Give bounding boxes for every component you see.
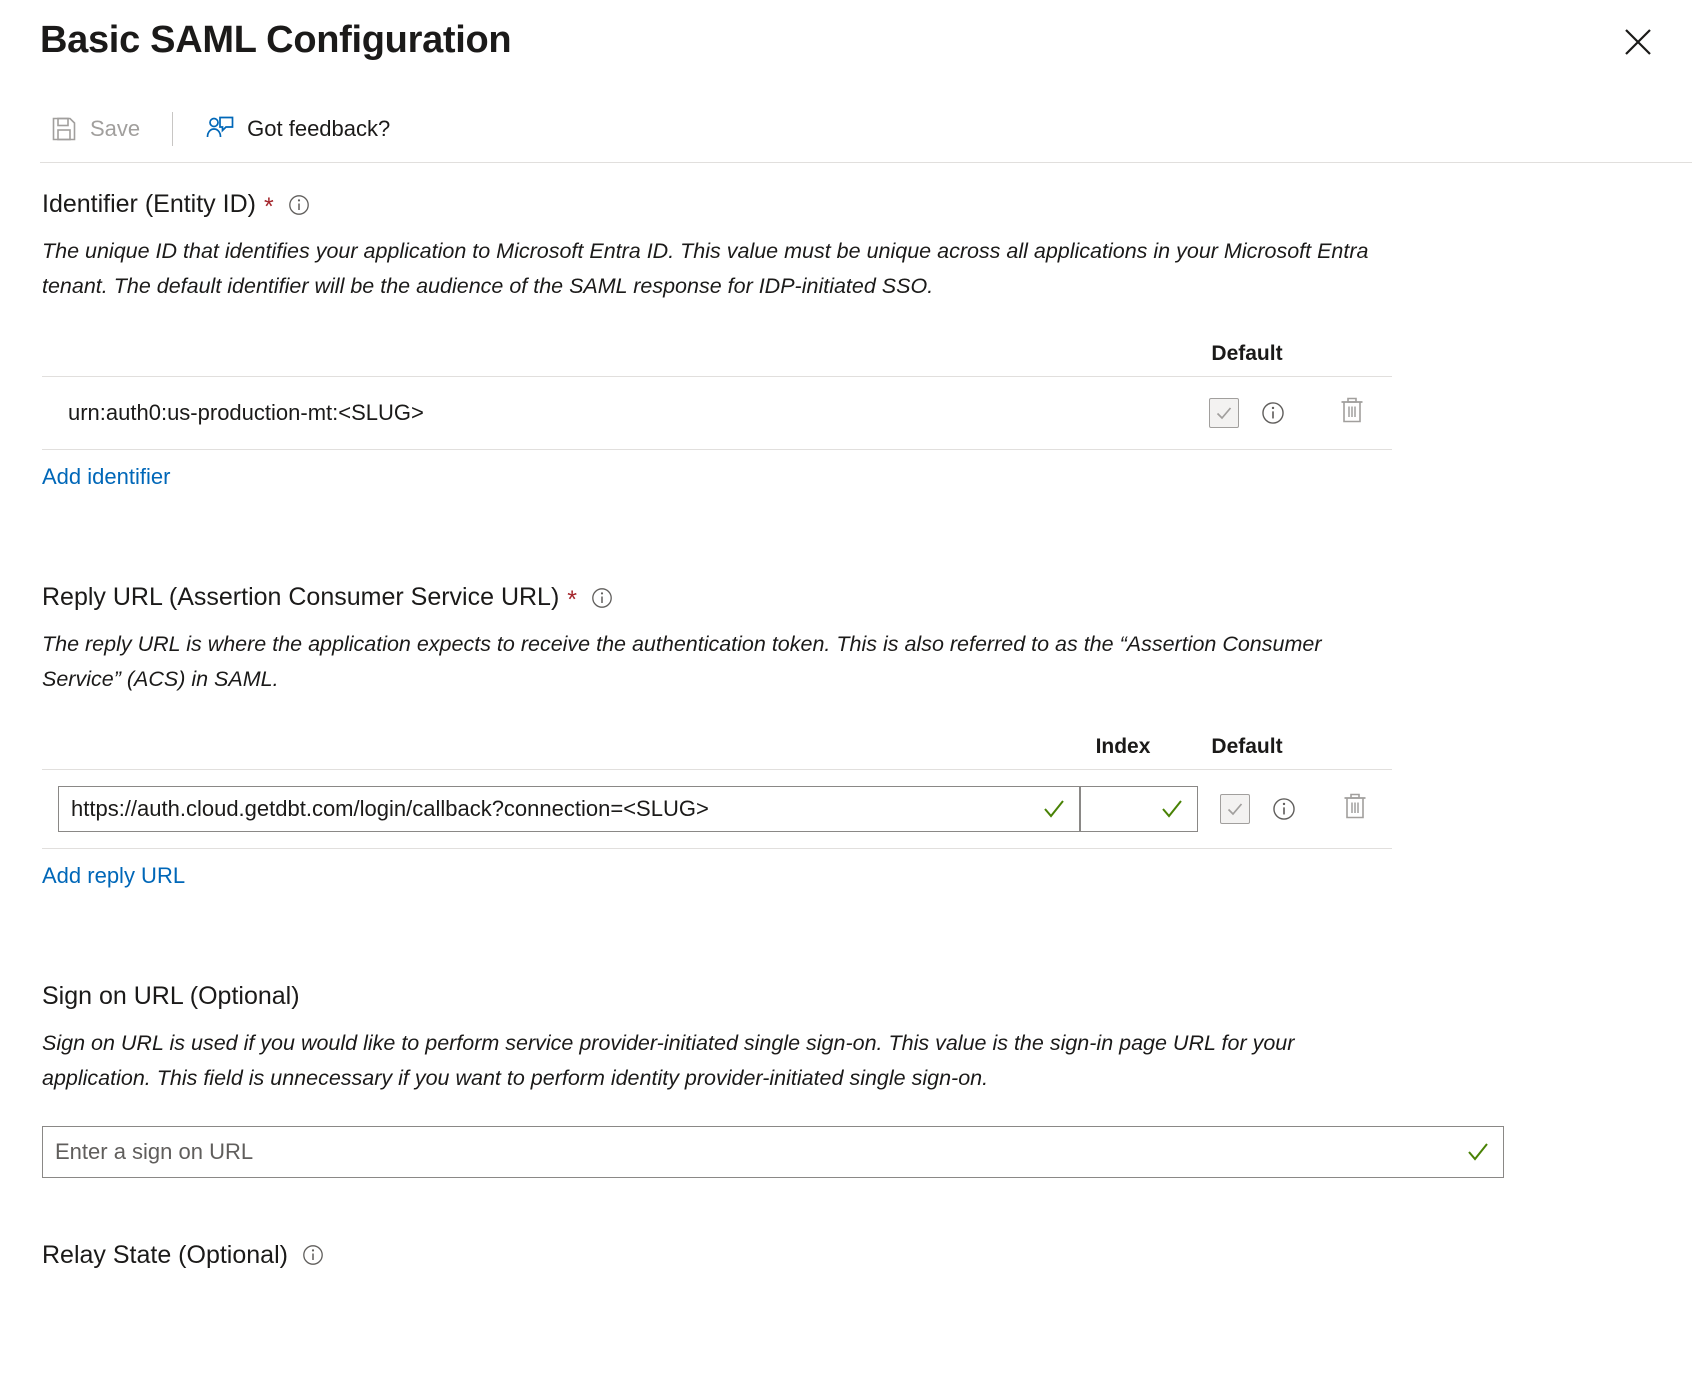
identifier-row-divider [42,449,1392,450]
table-row: urn:auth0:us-production-mt:<SLUG> [42,377,1392,449]
reply-url-description: The reply URL is where the application e… [42,627,1372,697]
reply-url-index-cell [1080,786,1198,832]
info-icon[interactable] [302,1244,324,1266]
reply-url-index-input[interactable] [1080,786,1198,832]
feedback-person-icon [205,115,235,143]
sign-on-url-input[interactable]: Enter a sign on URL [42,1126,1504,1178]
got-feedback-label: Got feedback? [247,116,390,142]
save-label: Save [90,116,140,142]
reply-url-input-cell: https://auth.cloud.getdbt.com/login/call… [42,786,1080,832]
close-icon[interactable] [1616,20,1660,64]
relay-state-label: Relay State (Optional) [42,1240,288,1271]
add-identifier-link[interactable]: Add identifier [42,464,170,490]
reply-url-table-header: Index Default [42,735,1392,769]
section-sign-on-url: Sign on URL (Optional) Sign on URL is us… [42,981,1652,1178]
reply-url-label-row: Reply URL (Assertion Consumer Service UR… [42,582,1652,613]
sign-on-url-label: Sign on URL (Optional) [42,981,300,1012]
reply-url-table: Index Default https://auth.cloud.getdbt.… [42,735,1392,849]
info-icon[interactable] [1261,401,1285,425]
column-header-default: Default [1182,735,1312,759]
default-checkbox[interactable] [1209,398,1239,428]
sign-on-url-description: Sign on URL is used if you would like to… [42,1026,1372,1096]
reply-url-label: Reply URL (Assertion Consumer Service UR… [42,582,559,613]
section-identifier: Identifier (Entity ID) * The unique ID t… [42,163,1652,490]
got-feedback-button[interactable]: Got feedback? [195,106,400,152]
info-icon[interactable] [1272,797,1296,821]
identifier-table: Default urn:auth0:us-production-mt:<SLUG… [42,342,1392,450]
identifier-label: Identifier (Entity ID) [42,189,256,220]
trash-icon[interactable] [1341,791,1369,826]
reply-url-input[interactable]: https://auth.cloud.getdbt.com/login/call… [58,786,1080,832]
identifier-table-header: Default [42,342,1392,376]
column-header-default: Default [1182,342,1312,366]
reply-url-value: https://auth.cloud.getdbt.com/login/call… [71,796,709,822]
command-divider [172,112,173,146]
reply-url-required-mark: * [567,588,577,613]
identifier-description: The unique ID that identifies your appli… [42,234,1372,304]
sign-on-url-label-row: Sign on URL (Optional) [42,981,1652,1012]
save-floppy-icon [50,115,78,143]
blade-header: Basic SAML Configuration [0,0,1692,96]
identifier-default-cell [1182,398,1312,428]
reply-url-delete-cell [1318,791,1392,826]
column-header-index: Index [1064,735,1182,759]
reply-url-default-cell [1198,794,1318,824]
identifier-label-row: Identifier (Entity ID) * [42,189,1652,220]
blade-content: Identifier (Entity ID) * The unique ID t… [0,163,1692,1271]
add-reply-url-link[interactable]: Add reply URL [42,863,185,889]
command-bar: Save Got feedback? [0,96,1692,162]
page-title: Basic SAML Configuration [40,18,1652,64]
relay-state-label-row: Relay State (Optional) [42,1240,1652,1271]
trash-icon[interactable] [1338,395,1366,430]
section-relay-state: Relay State (Optional) [42,1240,1652,1271]
section-reply-url: Reply URL (Assertion Consumer Service UR… [42,582,1652,889]
sign-on-url-placeholder: Enter a sign on URL [55,1139,253,1165]
save-button[interactable]: Save [40,106,150,152]
table-row: https://auth.cloud.getdbt.com/login/call… [42,770,1392,848]
valid-check-icon [1149,796,1185,822]
valid-check-icon [1455,1139,1491,1165]
identifier-delete-cell [1312,395,1392,430]
default-checkbox[interactable] [1220,794,1250,824]
identifier-value: urn:auth0:us-production-mt:<SLUG> [42,400,1182,426]
valid-check-icon [1031,796,1067,822]
identifier-required-mark: * [264,195,274,220]
info-icon[interactable] [288,194,310,216]
info-icon[interactable] [591,587,613,609]
reply-url-row-divider [42,848,1392,849]
